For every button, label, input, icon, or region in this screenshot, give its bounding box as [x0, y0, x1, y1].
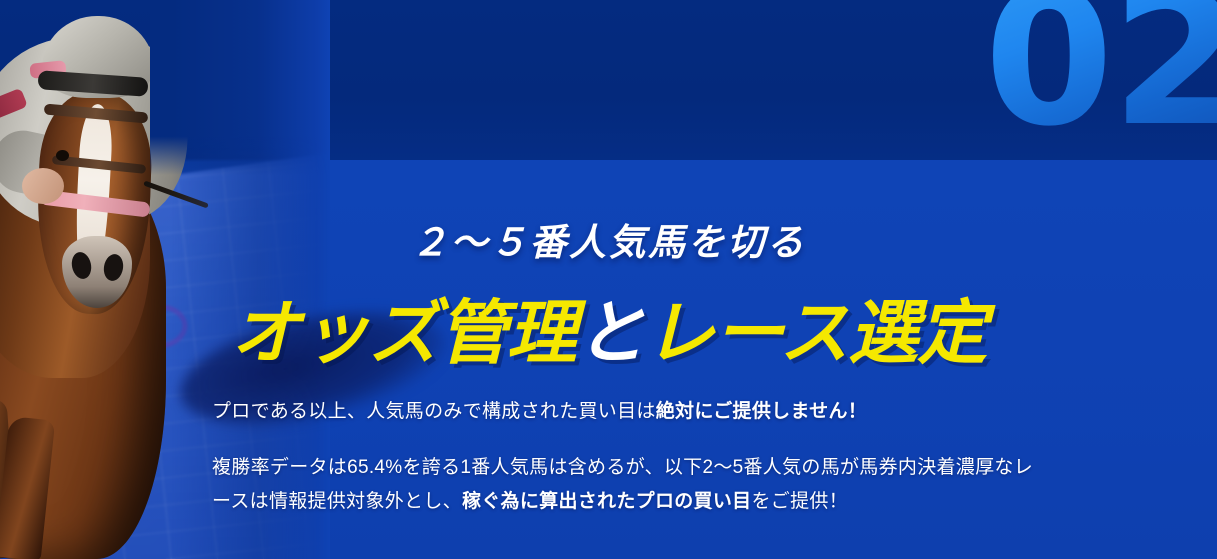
- body-line-3: ースは情報提供対象外とし、稼ぐ為に算出されたプロの買い目をご提供！: [212, 486, 848, 513]
- headline-part2: レース選定: [645, 294, 987, 372]
- body-line-3-plain-end: をご提供！: [751, 491, 848, 512]
- body-line-2: 複勝率データは65.4%を誇る1番人気馬は含めるが、以下2〜5番人気の馬が馬券内…: [212, 452, 1033, 479]
- hero-subheadline: ２〜５番人気馬を切る: [0, 212, 1217, 266]
- hero-headline: オッズ管理とレース選定: [0, 277, 1217, 378]
- body-line-1-plain: プロである以上、人気馬のみで構成された買い目は: [212, 401, 656, 422]
- hero-content: ２〜５番人気馬を切る オッズ管理とレース選定 プロである以上、人気馬のみで構成さ…: [0, 0, 1217, 559]
- hero-banner: 02 ２〜５番人気馬を切る オッズ管理とレース選定 プロである以上、人気馬: [0, 0, 1217, 559]
- body-line-3-plain-start: ースは情報提供対象外とし、: [212, 491, 462, 512]
- body-line-3-bold: 稼ぐ為に算出されたプロの買い目: [462, 491, 752, 512]
- headline-part1: オッズ管理: [231, 294, 576, 372]
- body-line-2-text: 複勝率データは65.4%を誇る1番人気馬は含めるが、以下2〜5番人気の馬が馬券内…: [212, 457, 1033, 478]
- headline-connector: と: [576, 294, 645, 372]
- body-line-1-bold: 絶対にご提供しません！: [656, 401, 867, 422]
- body-line-1: プロである以上、人気馬のみで構成された買い目は絶対にご提供しません！: [212, 396, 867, 423]
